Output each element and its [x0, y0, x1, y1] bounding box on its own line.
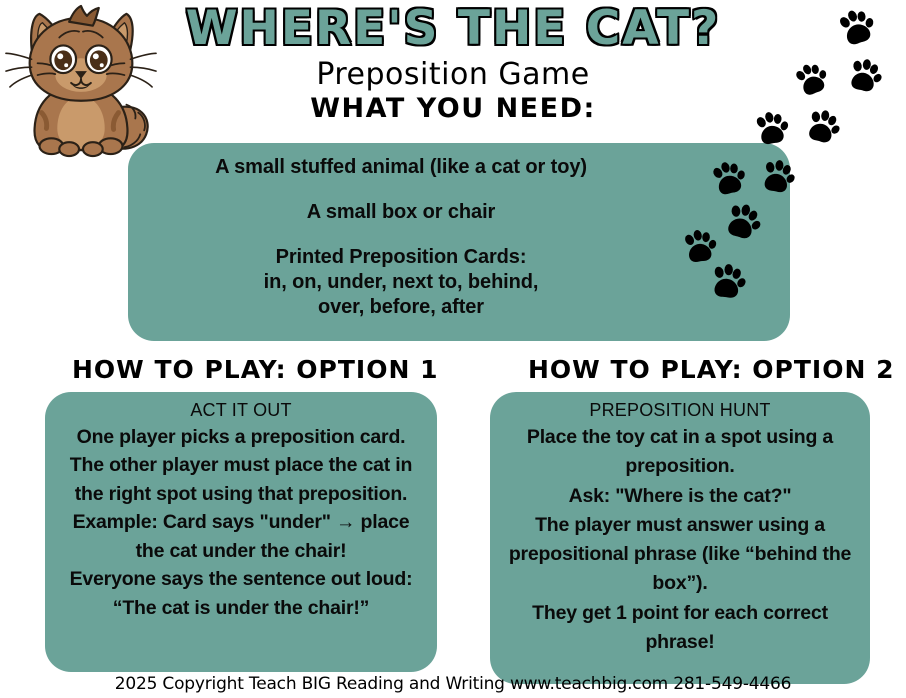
paw-print-icon: [755, 155, 799, 199]
paw-print-trail-inside: [0, 0, 906, 698]
paw-print-icon: [705, 156, 751, 202]
paw-print-icon: [717, 197, 766, 246]
paw-print-icon: [705, 260, 749, 304]
